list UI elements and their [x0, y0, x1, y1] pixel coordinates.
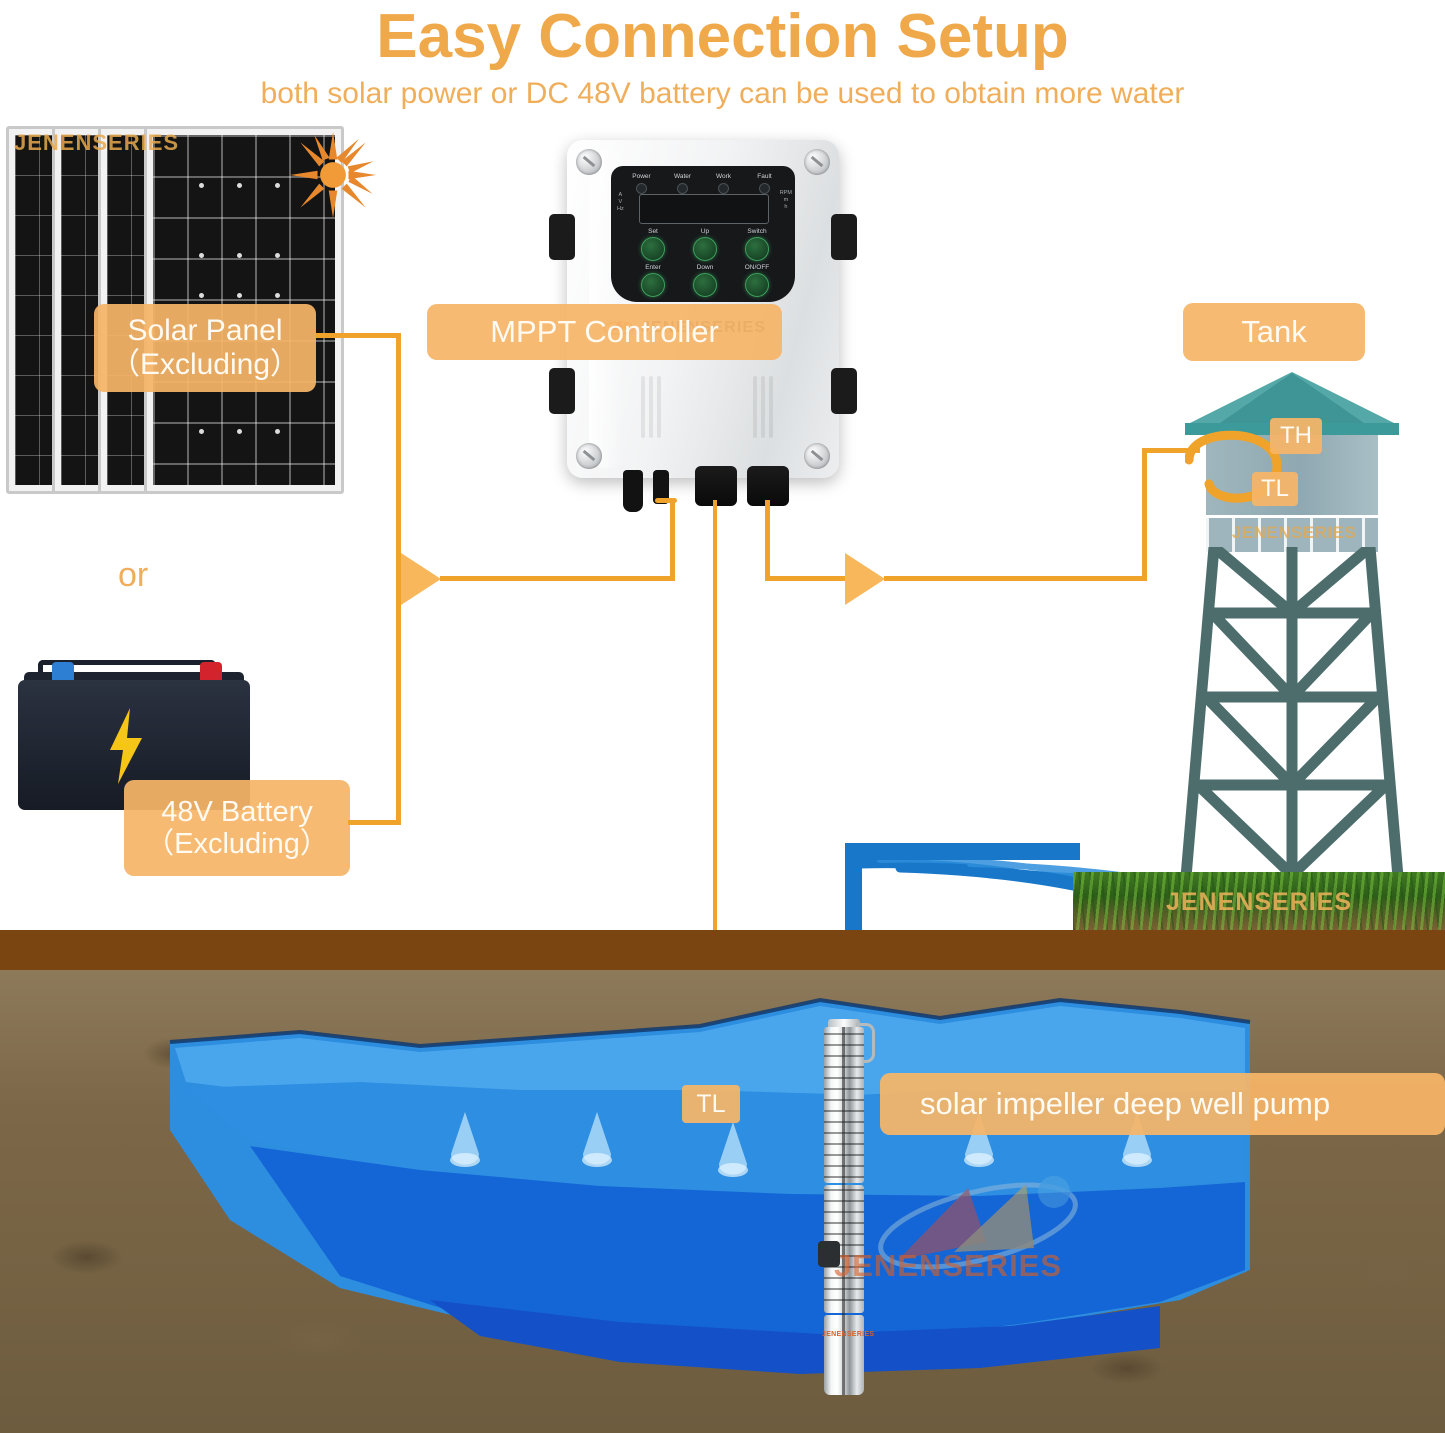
- button-grid[interactable]: Set Up Switch Enter Down ON/OFF: [631, 228, 779, 300]
- page-title: Easy Connection Setup: [0, 2, 1445, 72]
- vent-line: [753, 376, 757, 438]
- cell-dot: [199, 253, 204, 258]
- wire-solar-horizontal: [316, 333, 401, 338]
- water-drop-icon: [444, 1110, 486, 1174]
- cell-dot: [199, 293, 204, 298]
- led-water: Water: [665, 173, 701, 194]
- cell-dot: [275, 429, 280, 434]
- infographic-canvas: Easy Connection Setup both solar power o…: [0, 0, 1445, 1433]
- wire-solar-vertical: [396, 333, 401, 581]
- button-set[interactable]: Set: [631, 228, 675, 261]
- led-power: Power: [624, 173, 660, 194]
- cell-dot: [237, 183, 242, 188]
- button-led: [745, 273, 769, 297]
- mounting-bracket: [831, 214, 857, 260]
- wire-to-tank-vertical: [765, 500, 770, 578]
- wire-battery-horizontal: [348, 820, 401, 825]
- label-well-low-sensor: TL: [682, 1085, 740, 1123]
- screw-icon: [576, 443, 602, 469]
- cell-dot: [199, 429, 204, 434]
- pump-seam: [842, 1027, 845, 1395]
- cell-dot: [275, 183, 280, 188]
- led-work: Work: [706, 173, 742, 194]
- label-tank-high-sensor: TH: [1270, 418, 1322, 454]
- lightning-bolt-icon: [106, 708, 146, 784]
- cell-dot: [237, 429, 242, 434]
- screw-icon: [804, 149, 830, 175]
- cell-dot: [275, 253, 280, 258]
- grass-field: JENENSERIES: [1073, 872, 1445, 930]
- delivery-pipe-horizontal: [845, 843, 1080, 860]
- button-led: [641, 273, 665, 297]
- wire-controller-elbow: [655, 498, 677, 503]
- led-indicator: [636, 183, 647, 194]
- button-led: [693, 237, 717, 261]
- label-tank: Tank: [1183, 303, 1365, 361]
- cell-dot: [199, 183, 204, 188]
- water-drop-icon: [712, 1120, 754, 1184]
- cell-dot: [237, 293, 242, 298]
- vent-line: [649, 376, 653, 438]
- aquifer-water: [0, 970, 1445, 1433]
- page-subtitle: both solar power or DC 48V battery can b…: [0, 74, 1445, 114]
- button-led: [745, 237, 769, 261]
- led-indicator: [759, 183, 770, 194]
- screw-icon: [804, 443, 830, 469]
- screw-icon: [576, 149, 602, 175]
- tower-legs: [1140, 547, 1440, 877]
- panel-watermark: JENENSERIES: [14, 130, 179, 156]
- label-solar-panel-line2: （Excluding）: [110, 348, 300, 382]
- unit-labels-right: RPMmh: [780, 190, 792, 211]
- cell-dot: [275, 293, 280, 298]
- status-led-row: Power Water Work Fault: [621, 173, 785, 194]
- controller-display: [639, 194, 769, 224]
- cable-gland: [623, 470, 643, 512]
- wire-to-tank-horizontal: [765, 576, 847, 581]
- label-48v-battery: 48V Battery （Excluding）: [124, 780, 350, 876]
- vent-line: [761, 376, 765, 438]
- led-indicator: [677, 183, 688, 194]
- tower-watermark: JENENSERIES: [1210, 523, 1378, 543]
- button-switch[interactable]: Switch: [735, 228, 779, 261]
- flow-arrow-2: [845, 553, 885, 605]
- label-solar-panel: Solar Panel （Excluding）: [94, 304, 316, 392]
- label-battery-line1: 48V Battery: [161, 796, 313, 828]
- wire-battery-vertical: [396, 578, 401, 825]
- button-up[interactable]: Up: [683, 228, 727, 261]
- vent-line: [641, 376, 645, 438]
- button-down[interactable]: Down: [683, 264, 727, 297]
- pump-logo-text: JENENSERIES: [822, 1331, 866, 1338]
- tank-roof-inner: [1220, 373, 1364, 423]
- vent-line: [769, 376, 773, 438]
- button-led: [693, 273, 717, 297]
- label-deep-well-pump: solar impeller deep well pump: [880, 1073, 1445, 1135]
- label-tank-low-sensor: TL: [1252, 472, 1298, 506]
- led-indicator: [718, 183, 729, 194]
- cell-dot: [237, 253, 242, 258]
- led-fault: Fault: [747, 173, 783, 194]
- flow-arrow-1: [401, 553, 441, 605]
- wire-to-controller-vertical: [670, 500, 675, 581]
- wire-to-controller-horizontal: [440, 576, 675, 581]
- label-battery-line2: （Excluding）: [145, 828, 329, 860]
- button-onoff[interactable]: ON/OFF: [735, 264, 779, 297]
- label-mppt-controller: MPPT Controller: [427, 304, 782, 360]
- mounting-bracket: [831, 368, 857, 414]
- unit-labels-left: AVHz: [617, 192, 624, 213]
- button-enter[interactable]: Enter: [631, 264, 675, 297]
- mounting-bracket: [549, 368, 575, 414]
- sun-icon: [290, 132, 376, 218]
- underground-cross-section: [0, 970, 1445, 1433]
- header: Easy Connection Setup both solar power o…: [0, 0, 1445, 120]
- grass-watermark: JENENSERIES: [1073, 888, 1445, 917]
- wire-tank-run: [884, 576, 1146, 581]
- topsoil-band: [0, 930, 1445, 970]
- mounting-bracket: [549, 214, 575, 260]
- controller-keypad[interactable]: Power Water Work Fault AVHz RPMmh Set: [611, 166, 795, 302]
- button-led: [641, 237, 665, 261]
- brand-watermark-text: JENENSERIES: [828, 1248, 1068, 1284]
- vent-line: [657, 376, 661, 438]
- label-solar-panel-line1: Solar Panel: [127, 314, 282, 348]
- water-drop-icon: [576, 1110, 618, 1174]
- or-text: or: [118, 556, 148, 595]
